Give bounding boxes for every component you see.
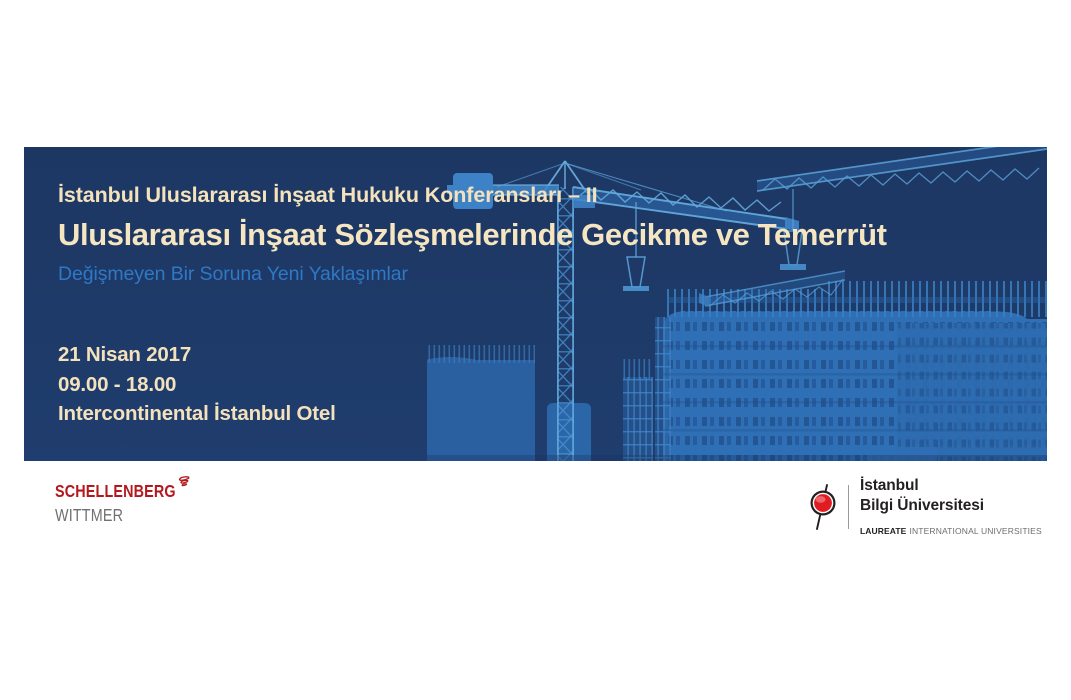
event-time: 09.00 - 18.00: [58, 370, 336, 400]
swirl-icon: [177, 476, 190, 489]
bilgi-wordmark-group: İstanbul Bilgi Üniversitesi LAUREATEINTE…: [860, 476, 1042, 539]
event-venue: Intercontinental İstanbul Otel: [58, 399, 336, 429]
laureate-word: LAUREATE: [860, 526, 906, 536]
istanbul-bilgi-university-logo: İstanbul Bilgi Üniversitesi LAUREATEINTE…: [803, 476, 1042, 539]
banner-heading-group: İstanbul Uluslararası İnşaat Hukuku Konf…: [58, 183, 758, 286]
conference-series-kicker: İstanbul Uluslararası İnşaat Hukuku Konf…: [58, 183, 758, 209]
event-details-group: 21 Nisan 2017 09.00 - 18.00 Intercontine…: [58, 340, 336, 429]
logo-divider: [848, 485, 849, 529]
schellenberg-wittmer-logo: SCHELLENBERG WITTMER: [55, 482, 255, 526]
conference-title: Uluslararası İnşaat Sözleşmelerinde Geci…: [58, 216, 758, 255]
laureate-rest: INTERNATIONAL UNIVERSITIES: [909, 526, 1041, 536]
schellenberg-wordmark: SCHELLENBERG: [55, 482, 176, 500]
laureate-tagline: LAUREATEINTERNATIONAL UNIVERSITIES: [860, 521, 1042, 539]
schellenberg-wordmark-wrap: SCHELLENBERG: [55, 482, 202, 502]
event-date: 21 Nisan 2017: [58, 340, 336, 370]
conference-subtitle: Değişmeyen Bir Soruna Yeni Yaklaşımlar: [58, 263, 758, 286]
bilgi-pin-icon: [803, 481, 843, 533]
sponsor-logo-row: SCHELLENBERG WITTMER: [0, 470, 1071, 560]
wittmer-wordmark: WITTMER: [55, 506, 123, 524]
conference-banner: İstanbul Uluslararası İnşaat Hukuku Konf…: [24, 147, 1047, 461]
bilgi-line-universitesi: Bilgi Üniversitesi: [860, 496, 1042, 516]
bilgi-line-istanbul: İstanbul: [860, 476, 1042, 496]
